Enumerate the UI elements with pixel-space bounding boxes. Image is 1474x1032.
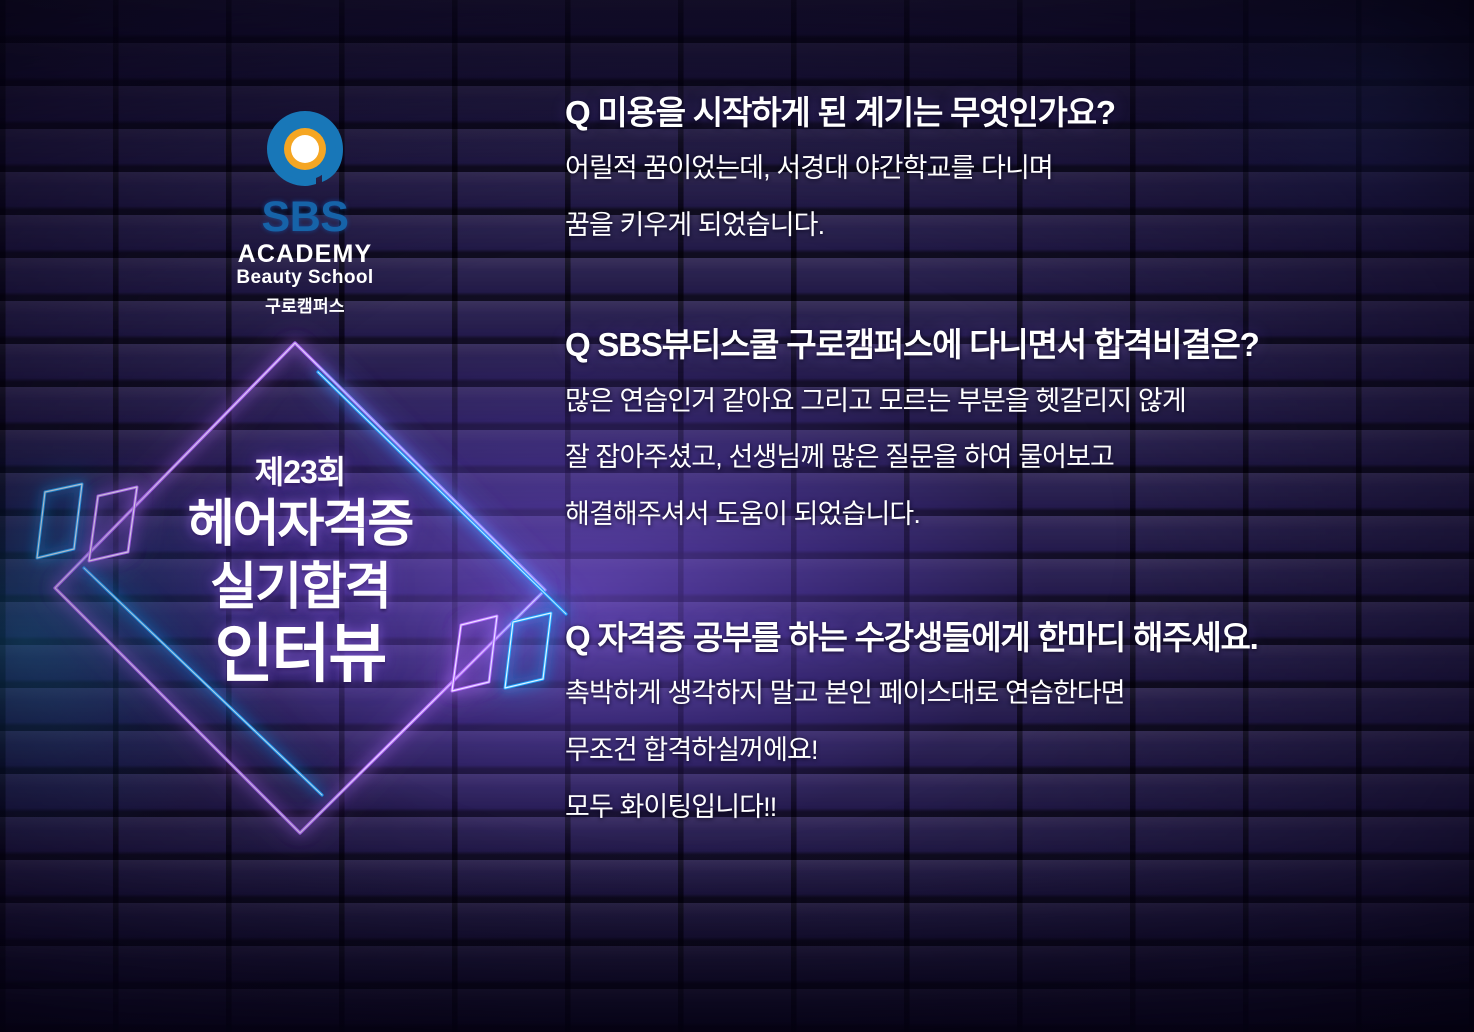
logo-beauty-school-text: Beauty School: [205, 268, 405, 289]
title-line-3: 인터뷰: [110, 619, 490, 689]
logo-academy-text: ACADEMY: [205, 242, 405, 267]
qa-section: Q 미용을 시작하게 된 계기는 무엇인가요? 어릴적 꿈이었는데, 서경대 야…: [565, 92, 1445, 824]
brand-logo: SBS ACADEMY Beauty School 구로캠퍼스: [205, 105, 405, 315]
sbs-circle-logo-icon: [205, 105, 405, 189]
qa-answer-2-line-2: 잘 잡아주셨고, 선생님께 많은 질문을 하여 물어보고: [565, 440, 1445, 475]
qa-block-2: Q SBS뷰티스쿨 구로캠퍼스에 다니면서 합격비결은? 많은 연습인거 같아요…: [565, 324, 1445, 531]
qa-answer-3-line-3: 모두 화이팅입니다!!: [565, 790, 1445, 825]
qa-answer-1-line-1: 어릴적 꿈이었는데, 서경대 야간학교를 다니며: [565, 151, 1445, 186]
qa-question-1: Q 미용을 시작하게 된 계기는 무엇인가요?: [565, 92, 1445, 133]
qa-question-3: Q 자격증 공부를 하는 수강생들에게 한마디 해주세요.: [565, 617, 1445, 658]
qa-answer-3-line-2: 무조건 합격하실꺼에요!: [565, 733, 1445, 768]
qa-spacer-1: [565, 282, 1445, 324]
qa-block-1: Q 미용을 시작하게 된 계기는 무엇인가요? 어릴적 꿈이었는데, 서경대 야…: [565, 92, 1445, 242]
logo-campus-text: 구로캠퍼스: [205, 298, 405, 315]
qa-answer-2-line-3: 해결해주셔서 도움이 되었습니다.: [565, 497, 1445, 532]
poster-title: 제23회 헤어자격증 실기합격 인터뷰: [110, 455, 490, 689]
qa-answer-2-line-1: 많은 연습인거 같아요 그리고 모르는 부분을 헷갈리지 않게: [565, 384, 1445, 419]
qa-block-3: Q 자격증 공부를 하는 수강생들에게 한마디 해주세요. 촉박하게 생각하지 …: [565, 617, 1445, 824]
title-line-1: 헤어자격증: [110, 494, 490, 553]
poster-root: SBS ACADEMY Beauty School 구로캠퍼스 제23회 헤어자…: [0, 0, 1474, 1032]
title-line-2: 실기합격: [110, 557, 490, 616]
qa-answer-3-line-1: 촉박하게 생각하지 말고 본인 페이스대로 연습한다면: [565, 676, 1445, 711]
title-edition: 제23회: [110, 455, 490, 490]
qa-answer-1-line-2: 꿈을 키우게 되었습니다.: [565, 208, 1445, 243]
logo-sbs-text: SBS: [205, 196, 405, 239]
qa-spacer-2: [565, 571, 1445, 617]
qa-question-2: Q SBS뷰티스쿨 구로캠퍼스에 다니면서 합격비결은?: [565, 324, 1445, 365]
